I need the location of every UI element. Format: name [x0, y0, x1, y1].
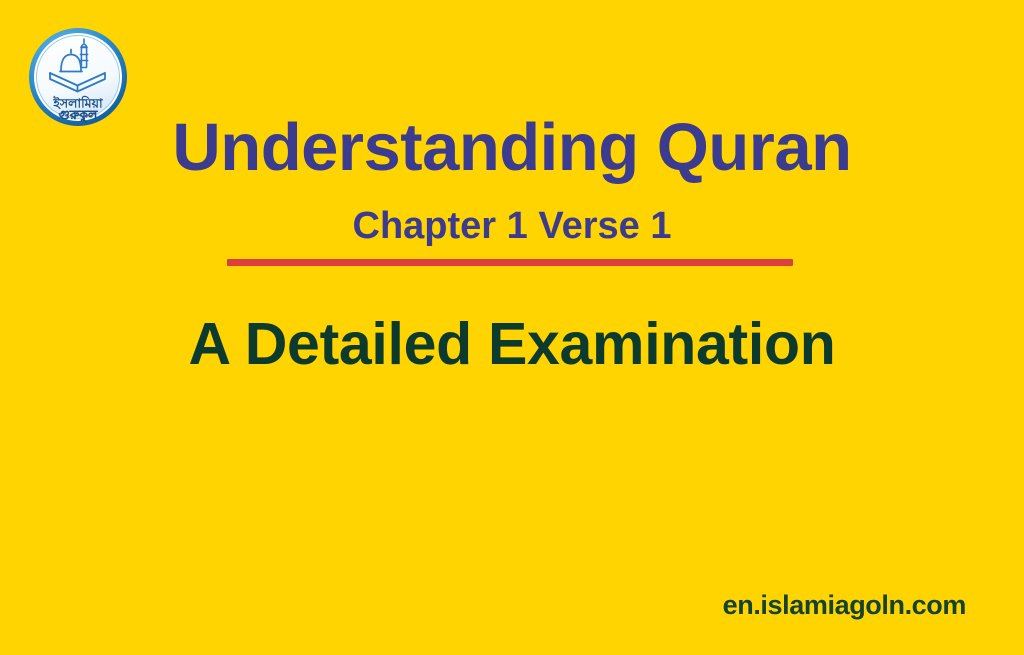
- page-headline: A Detailed Examination: [0, 315, 1024, 374]
- site-logo[interactable]: ইসলামিয়া গুরুকুল: [28, 27, 128, 127]
- logo-badge-icon: ইসলামিয়া গুরুকুল: [28, 27, 128, 127]
- title-divider: [227, 259, 793, 266]
- page-title: Understanding Quran: [0, 114, 1024, 181]
- title-slide: ইসলামিয়া গুরুকুল Understanding Quran Ch…: [0, 0, 1024, 655]
- page-subtitle: Chapter 1 Verse 1: [0, 207, 1024, 245]
- website-url-link[interactable]: en.islamiagoln.com: [723, 592, 966, 619]
